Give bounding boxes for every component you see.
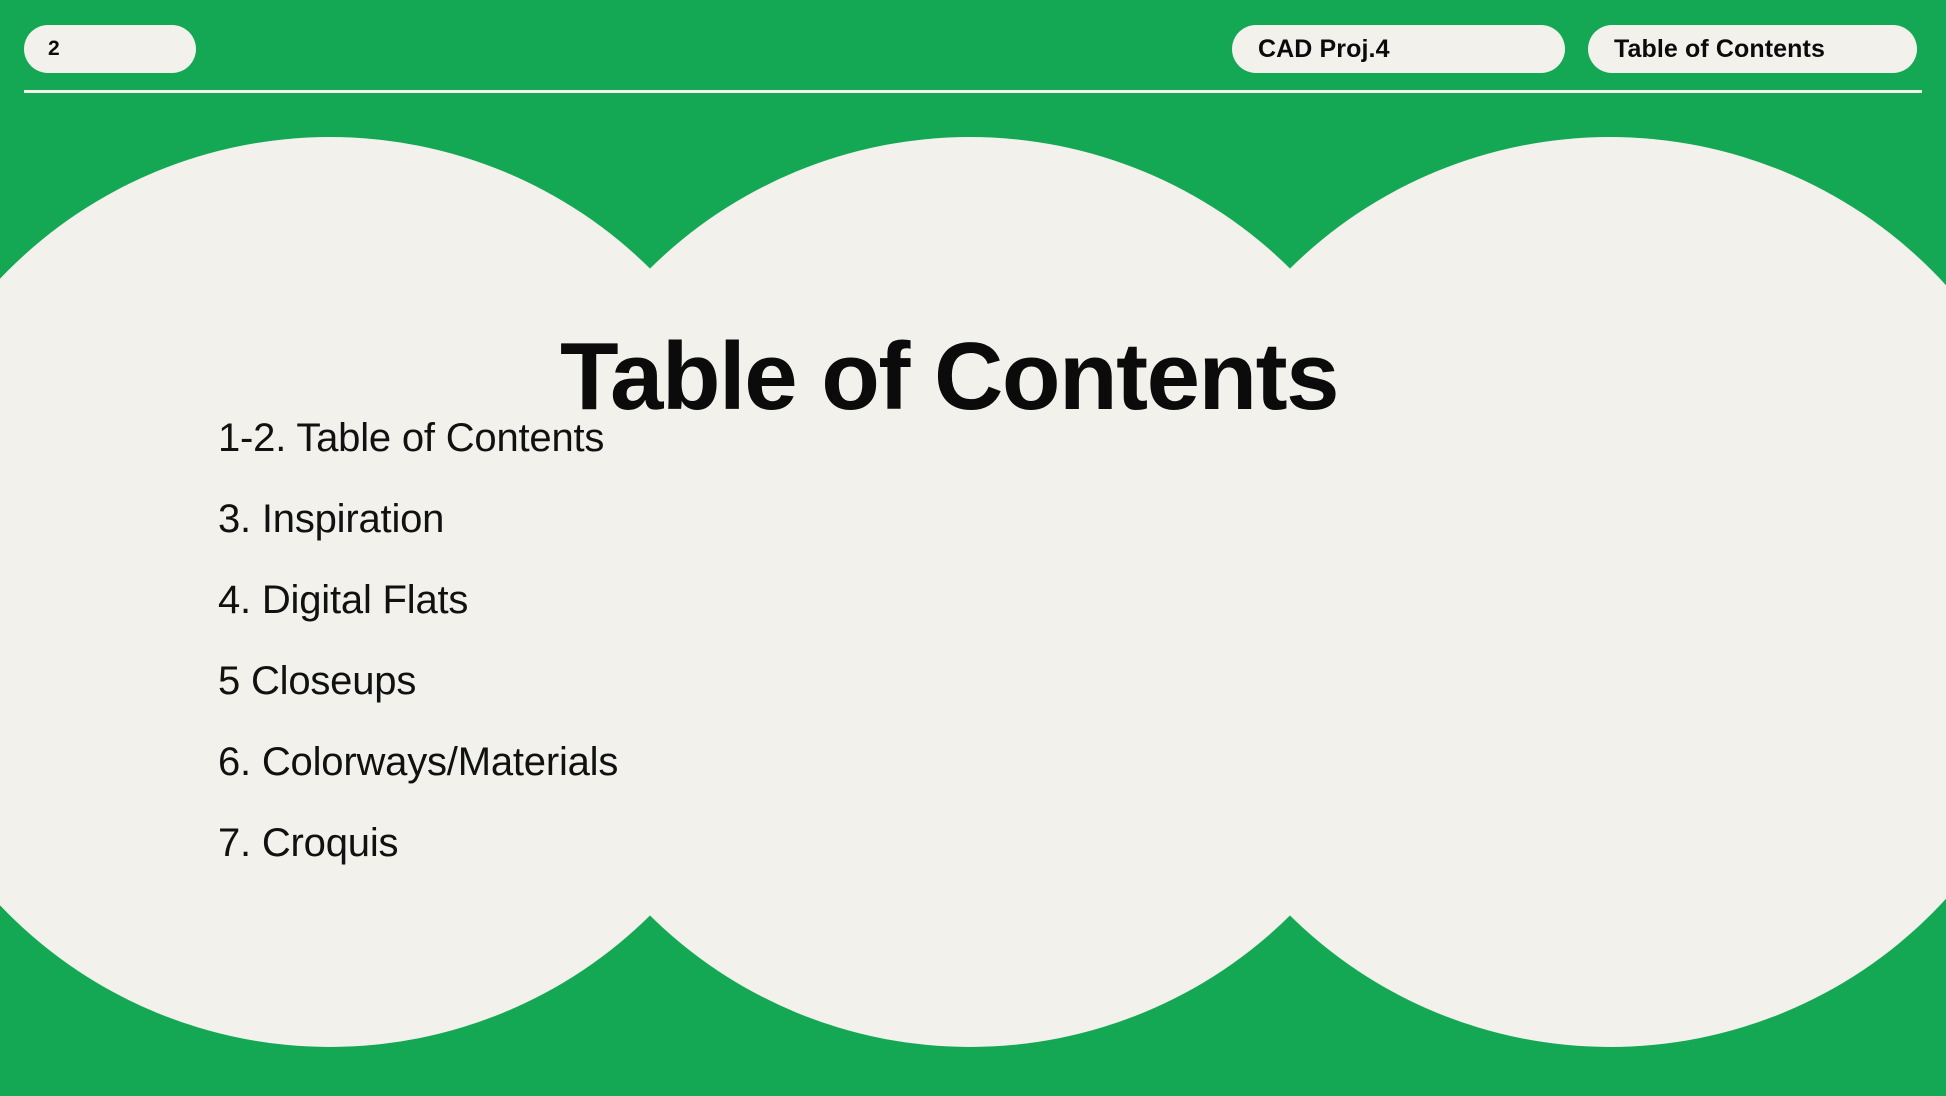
toc-list-item[interactable]: 4. Digital Flats	[218, 580, 618, 620]
toc-list-item[interactable]: 6. Colorways/Materials	[218, 742, 618, 782]
toc-list-item[interactable]: 7. Croquis	[218, 823, 618, 863]
toc-list-item[interactable]: 5 Closeups	[218, 661, 618, 701]
toc-list-item[interactable]: 3. Inspiration	[218, 499, 618, 539]
section-name-pill: Table of Contents	[1588, 25, 1917, 73]
header-divider-rule	[24, 90, 1922, 93]
project-name-pill: CAD Proj.4	[1232, 25, 1565, 73]
toc-list-item[interactable]: 1-2. Table of Contents	[218, 418, 618, 458]
section-name-label: Table of Contents	[1614, 35, 1825, 64]
slide-canvas: 2 CAD Proj.4 Table of Contents Table of …	[0, 0, 1946, 1096]
table-of-contents-list: 1-2. Table of Contents3. Inspiration4. D…	[218, 418, 618, 863]
page-title: Table of Contents	[0, 329, 1898, 425]
slide-header: 2 CAD Proj.4 Table of Contents	[0, 0, 1946, 92]
project-name-label: CAD Proj.4	[1258, 35, 1390, 64]
page-number-label: 2	[48, 37, 60, 61]
page-number-pill: 2	[24, 25, 196, 73]
